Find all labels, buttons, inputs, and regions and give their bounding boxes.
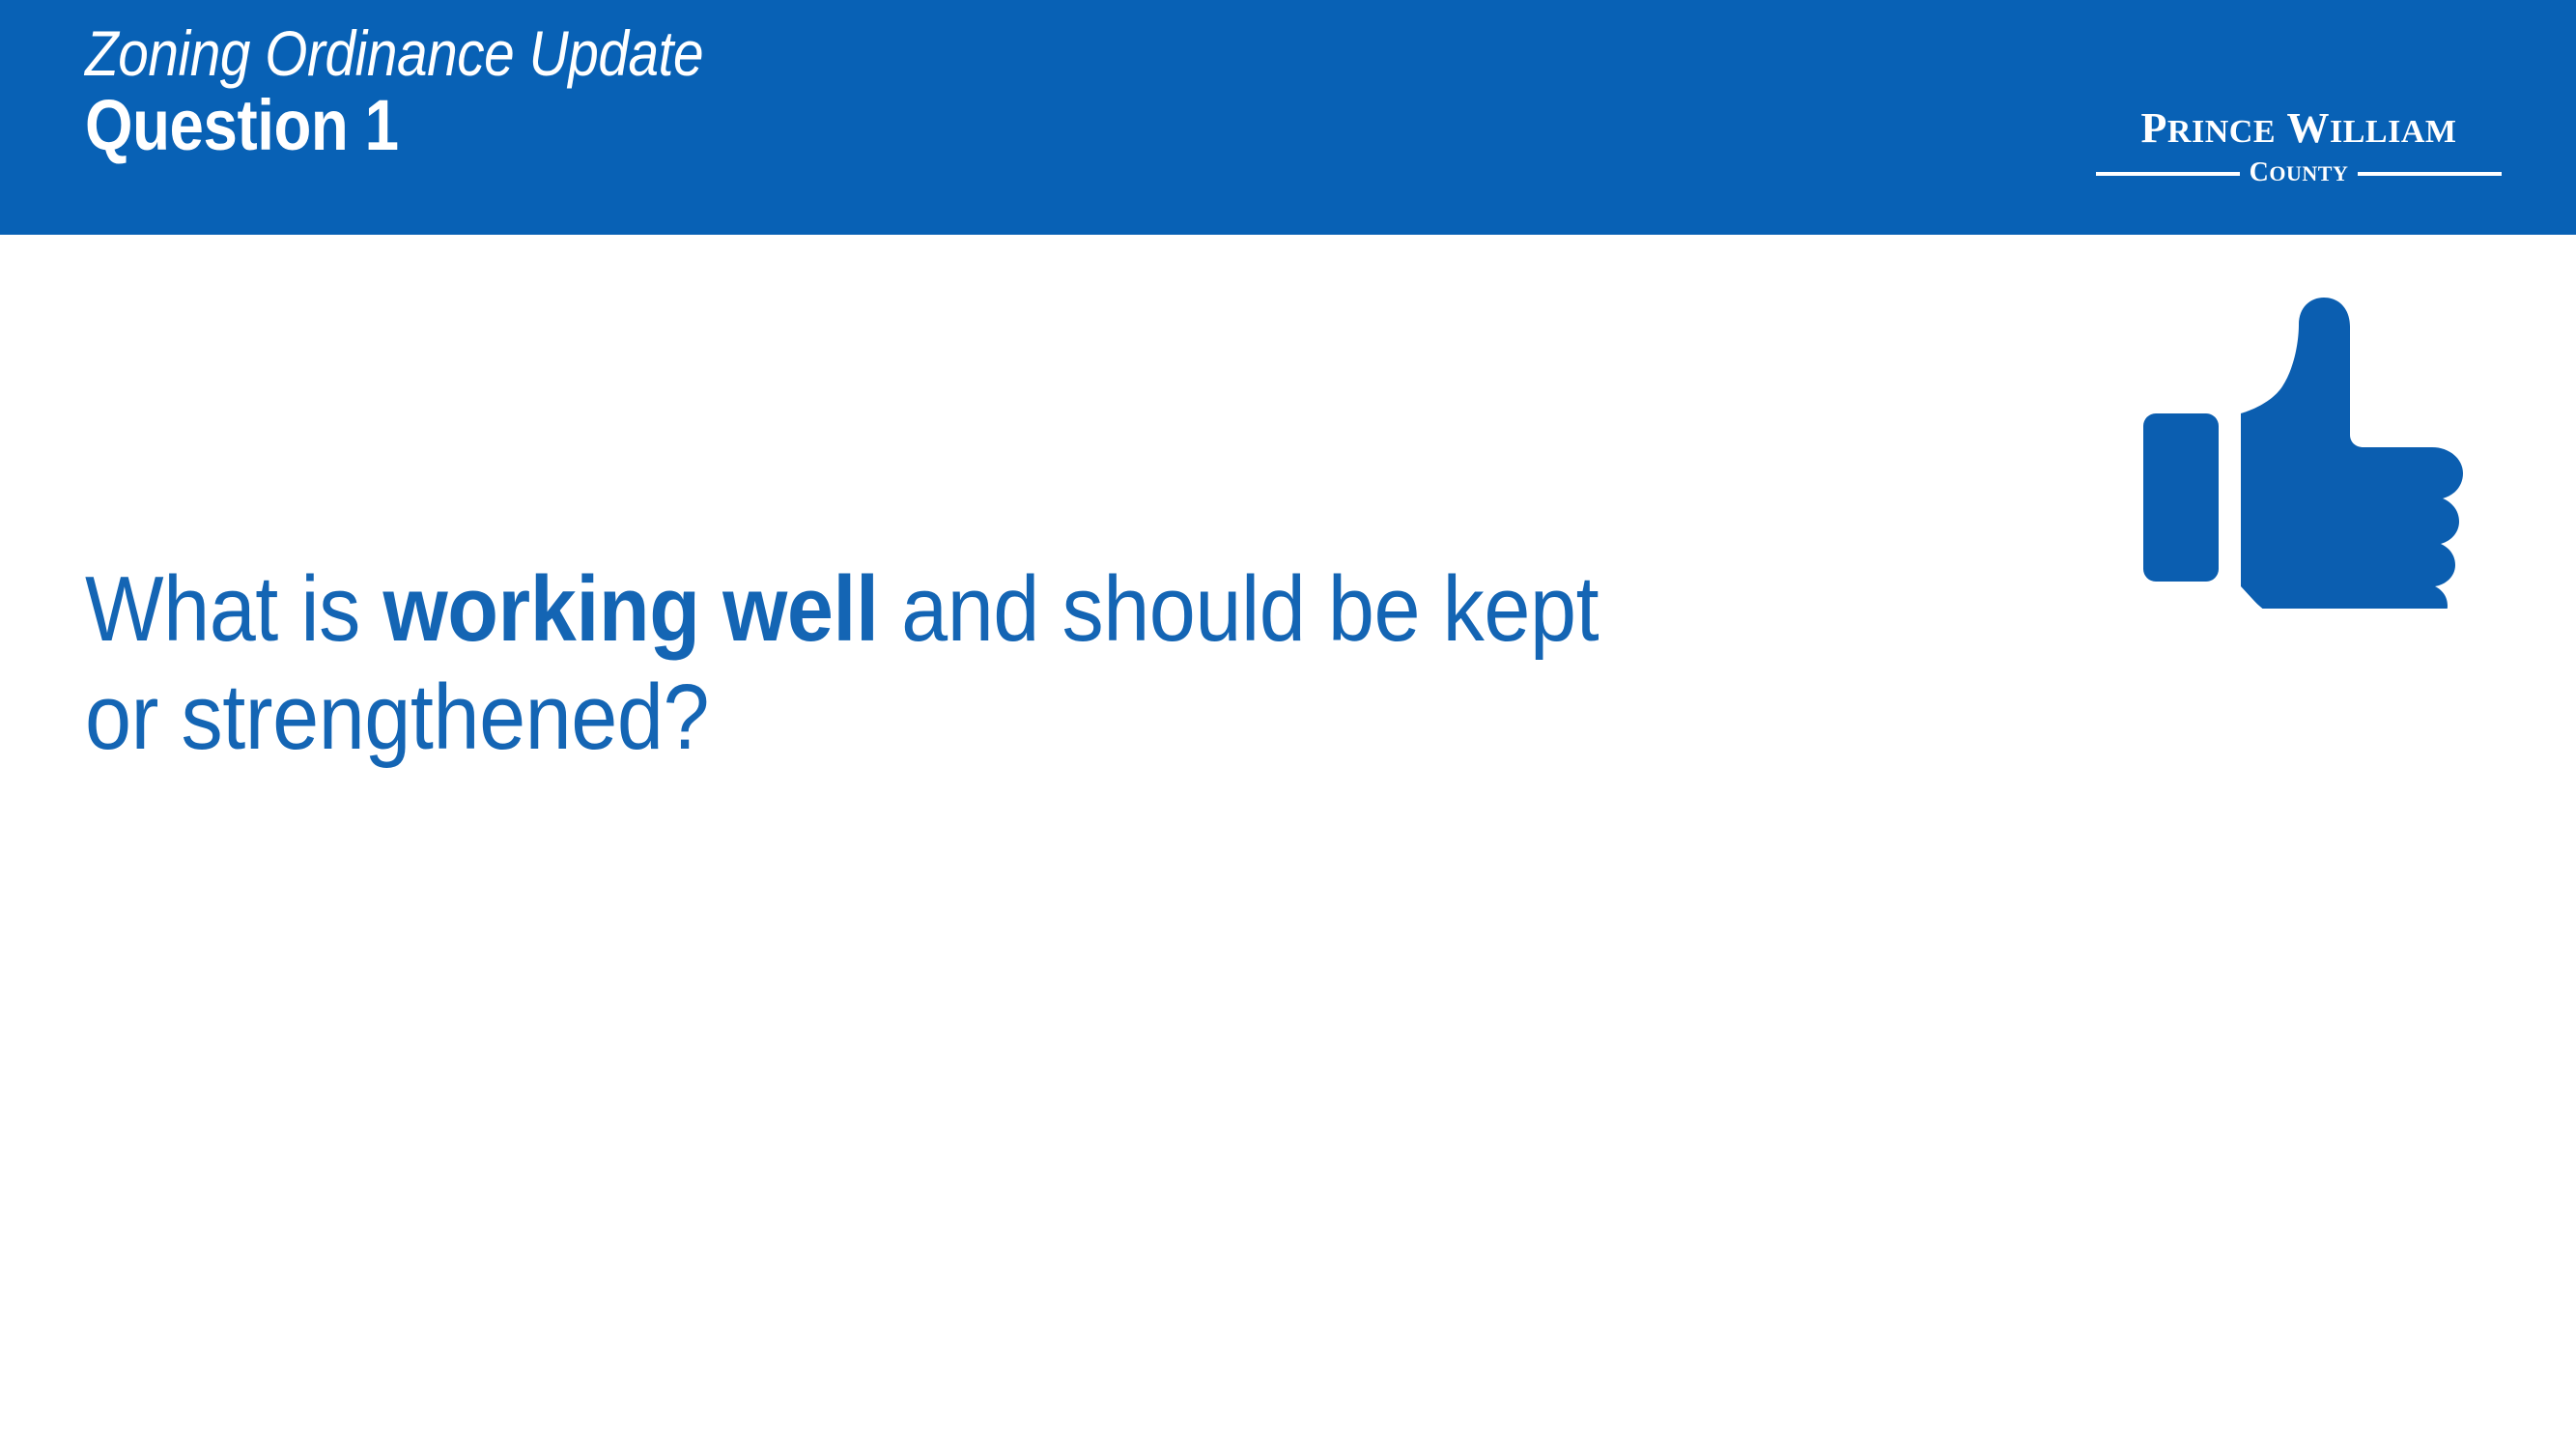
thumbs-up-icon <box>2125 290 2482 609</box>
page-title: Question 1 <box>85 88 1248 163</box>
question-lead: What is <box>85 557 382 661</box>
logo-william-rest: ILLIAM <box>2330 114 2456 150</box>
thumbs-up-cuff <box>2143 413 2219 582</box>
slide-canvas: Zoning Ordinance Update Question 1 PRINC… <box>0 0 2576 1449</box>
logo-prince-rest: RINCE <box>2167 114 2276 150</box>
logo-w-cap: W <box>2287 104 2331 152</box>
logo-p-cap: P <box>2141 104 2167 152</box>
logo-county-text: COUNTY <box>2250 158 2349 188</box>
logo-primary-text: PRINCE WILLIAM <box>2096 106 2502 155</box>
logo-county-row: COUNTY <box>2096 158 2502 188</box>
header-bar: Zoning Ordinance Update Question 1 PRINC… <box>0 0 2576 235</box>
logo-space <box>2276 104 2287 152</box>
logo-rule-right <box>2358 172 2502 176</box>
logo-county-rest: OUNTY <box>2269 161 2348 185</box>
header-eyebrow: Zoning Ordinance Update <box>85 21 1248 86</box>
question-emphasis: working well <box>382 557 878 661</box>
logo-c-cap: C <box>2250 157 2270 187</box>
question-text: What is working well and should be kept … <box>85 555 1650 772</box>
header-title-group: Zoning Ordinance Update Question 1 <box>85 21 1437 163</box>
thumbs-up-hand <box>2241 298 2463 609</box>
logo-rule-left <box>2096 172 2240 176</box>
prince-william-county-logo: PRINCE WILLIAM COUNTY <box>2096 106 2502 184</box>
